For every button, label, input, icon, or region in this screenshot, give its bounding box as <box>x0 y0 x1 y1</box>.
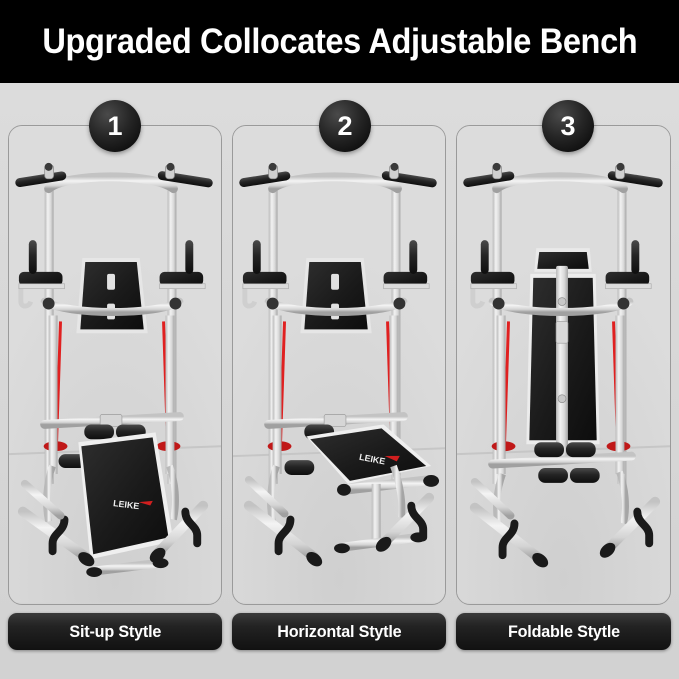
caption-button-foldable[interactable]: Foldable Stytle <box>456 613 671 650</box>
step-badge-3: 3 <box>542 100 594 152</box>
step-badge-1: 1 <box>89 100 141 152</box>
page-title: Upgraded Collocates Adjustable Bench <box>42 22 637 62</box>
caption-button-horizontal[interactable]: Horizontal Stytle <box>232 613 446 650</box>
product-panel-2[interactable]: LEIKE <box>232 125 446 605</box>
caption-label-3: Foldable Stytle <box>507 622 619 642</box>
step-badge-3-label: 3 <box>560 111 575 142</box>
caption-label-2: Horizontal Stytle <box>277 622 401 642</box>
caption-label-1: Sit-up Stytle <box>69 622 161 642</box>
title-bar: Upgraded Collocates Adjustable Bench <box>0 0 679 83</box>
step-badge-2-label: 2 <box>337 111 352 142</box>
product-panel-1[interactable]: LEIKE <box>8 125 222 605</box>
step-badge-1-label: 1 <box>107 111 122 142</box>
product-illustration-situp: LEIKE <box>9 126 221 604</box>
product-illustration-horizontal: LEIKE <box>233 126 445 604</box>
content-stage: LEIKE <box>0 83 679 679</box>
product-illustration-foldable <box>457 126 670 604</box>
product-panel-3[interactable] <box>456 125 671 605</box>
step-badge-2: 2 <box>319 100 371 152</box>
caption-button-situp[interactable]: Sit-up Stytle <box>8 613 222 650</box>
